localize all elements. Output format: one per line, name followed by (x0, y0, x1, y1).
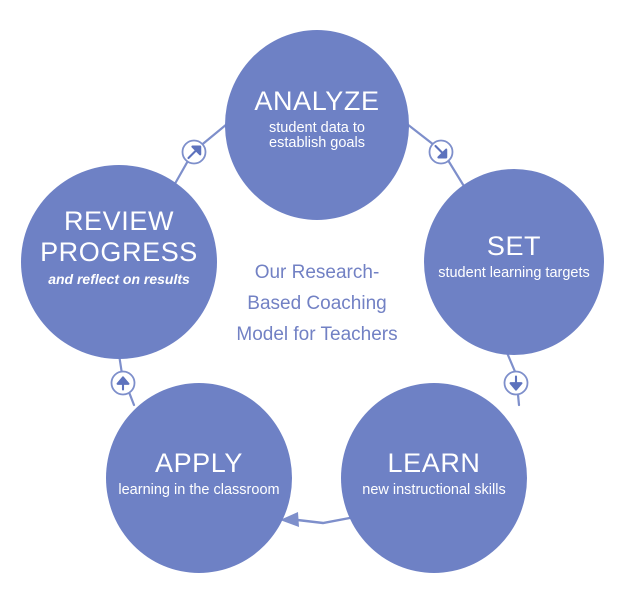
node-circle-set[interactable] (424, 169, 604, 355)
marker-review-to-analyze[interactable] (183, 141, 206, 164)
node-circle-analyze[interactable] (225, 30, 409, 220)
marker-analyze-to-set[interactable] (430, 141, 453, 164)
center-caption: Our Research- Based Coaching Model for T… (217, 258, 417, 350)
node-circle-apply[interactable] (106, 383, 292, 573)
center-caption-line-3: Model for Teachers (217, 320, 417, 351)
node-circle-review[interactable] (21, 165, 217, 359)
center-caption-line-1: Our Research- (217, 258, 417, 289)
coaching-cycle-diagram: ANALYZE student data to establish goals … (0, 0, 634, 612)
node-circle-learn[interactable] (341, 383, 527, 573)
marker-apply-to-review[interactable] (112, 372, 135, 395)
center-caption-line-2: Based Coaching (217, 289, 417, 320)
marker-set-to-learn[interactable] (505, 372, 528, 395)
connector-line-learn-to-apply (289, 517, 355, 523)
